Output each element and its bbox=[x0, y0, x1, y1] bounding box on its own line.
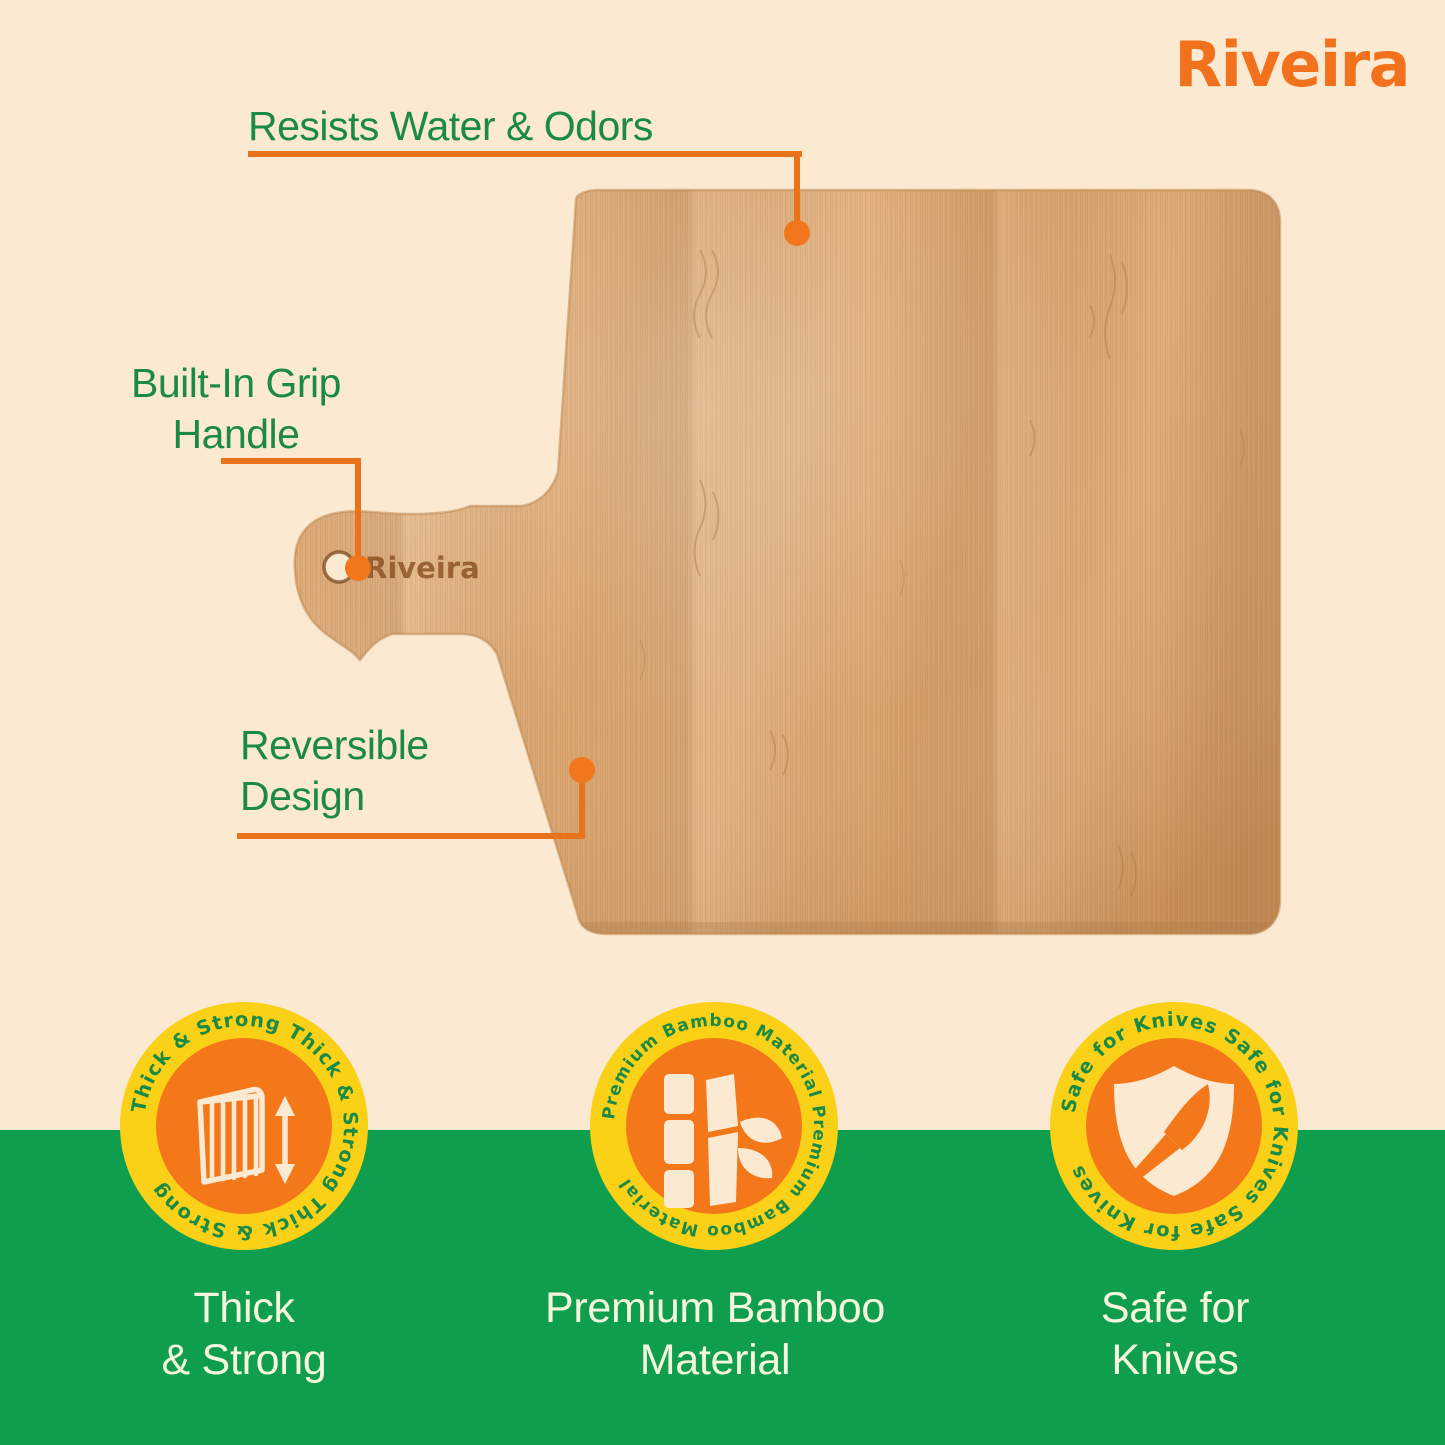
callout-label-reversible-design: Reversible Design bbox=[240, 720, 429, 823]
callout-label-built-in-grip-handle: Built-In Grip Handle bbox=[110, 358, 362, 461]
callout-stem-reversible-design bbox=[579, 775, 585, 837]
badge-premium-bamboo-material: Premium Bamboo Material Premium Bamboo M… bbox=[588, 1000, 840, 1252]
callout-underline-resists-water-odors bbox=[248, 151, 802, 157]
callout-underline-built-in-grip-handle bbox=[221, 458, 361, 464]
badge-caption-premium-bamboo: Premium Bamboo Material bbox=[470, 1282, 960, 1387]
callout-underline-reversible-design bbox=[237, 833, 585, 839]
callout-dot-resists-water-odors bbox=[784, 220, 810, 246]
badge-thick-strong: Thick & Strong Thick & Strong Thick & St… bbox=[118, 1000, 370, 1252]
brand-logo: Riveira bbox=[1174, 34, 1409, 96]
callout-label-resists-water-odors: Resists Water & Odors bbox=[248, 101, 653, 152]
background-cream bbox=[0, 0, 1445, 1132]
callout-dot-built-in-grip-handle bbox=[345, 555, 371, 581]
callout-dot-reversible-design bbox=[569, 757, 595, 783]
badge-caption-safe-for-knives: Safe for Knives bbox=[1000, 1282, 1350, 1387]
badge-safe-for-knives: Safe for Knives Safe for Knives Safe for… bbox=[1048, 1000, 1300, 1252]
infographic-canvas: Riveira Riveira Resists Water & Odors Bu… bbox=[0, 0, 1445, 1445]
badge-caption-thick-strong: Thick & Strong bbox=[94, 1282, 394, 1387]
